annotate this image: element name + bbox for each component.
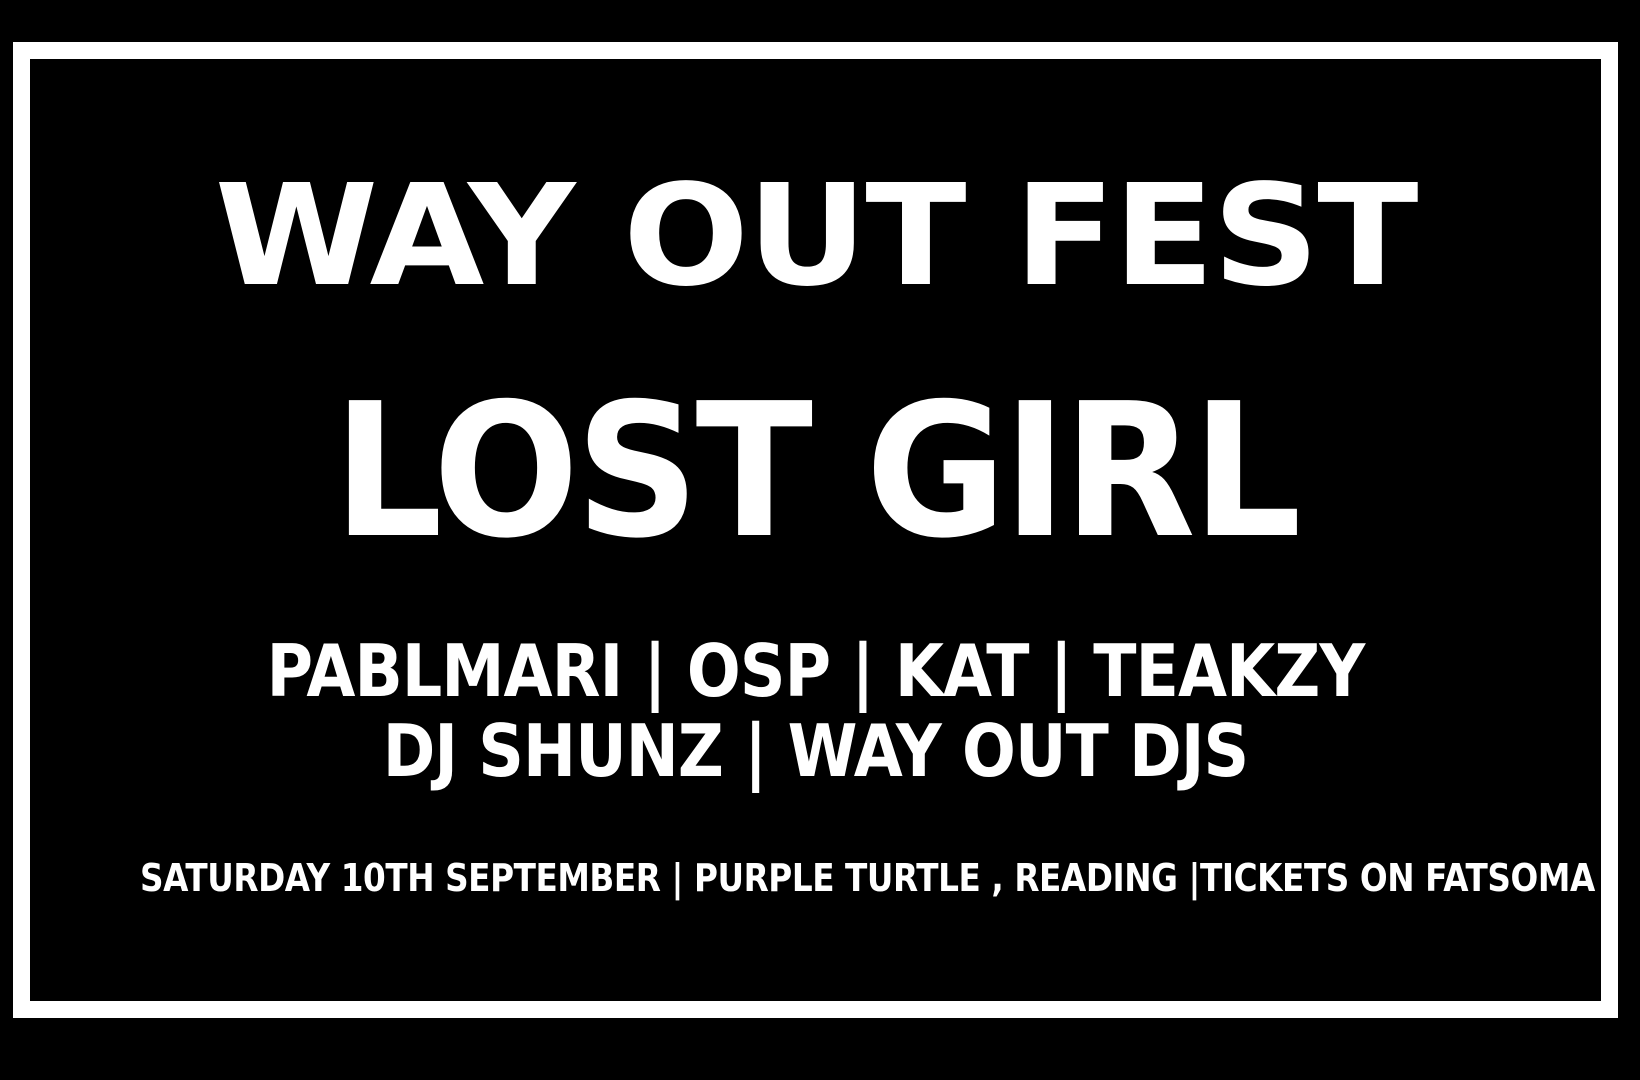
event-title: WAY OUT FEST	[0, 167, 1640, 307]
event-details-line: SATURDAY 10TH SEPTEMBER | PURPLE TURTLE …	[140, 859, 1491, 897]
headliner-title: LOST GIRL	[85, 379, 1546, 564]
event-poster: WAY OUT FEST LOST GIRL PABLMARI | OSP | …	[0, 0, 1640, 1080]
lineup-row-2: DJ SHUNZ | WAY OUT DJS	[124, 715, 1506, 787]
lineup-row-1: PABLMARI | OSP | KAT | TEAKZY	[124, 635, 1506, 707]
poster-content: WAY OUT FEST LOST GIRL PABLMARI | OSP | …	[30, 59, 1601, 1001]
